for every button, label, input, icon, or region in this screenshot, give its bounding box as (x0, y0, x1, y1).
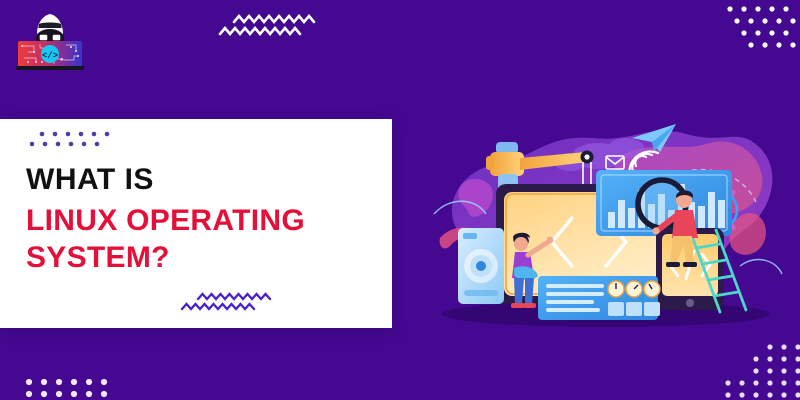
software-development-illustration (420, 118, 792, 338)
logo-code-glyph: </> (42, 51, 58, 61)
logo-svg: </> (14, 12, 86, 74)
zigzag-card-blue (180, 291, 284, 315)
dot-grid-card (28, 129, 118, 151)
dot-grid-top-right (726, 4, 798, 58)
glasses-icon (39, 34, 48, 41)
panel-buttons (608, 302, 660, 316)
banner-root: </> (0, 0, 800, 400)
panel-dials (608, 281, 660, 297)
illustration-svg (420, 118, 792, 338)
headline-line-2: LINUX OPERATING SYSTEM? (26, 202, 386, 276)
headline-line-1: WHAT IS (26, 163, 386, 197)
hacker-laptop-logo[interactable]: </> (14, 12, 86, 74)
dot-grid-bottom-right (722, 340, 800, 400)
control-panel (538, 276, 660, 320)
dot-grid-bottom-left (24, 376, 110, 400)
headline-card: WHAT IS LINUX OPERATING SYSTEM? (0, 119, 392, 328)
server-tower-icon (458, 228, 504, 304)
zigzag-top-white (218, 14, 328, 42)
page-title: WHAT IS LINUX OPERATING SYSTEM? (26, 163, 386, 276)
